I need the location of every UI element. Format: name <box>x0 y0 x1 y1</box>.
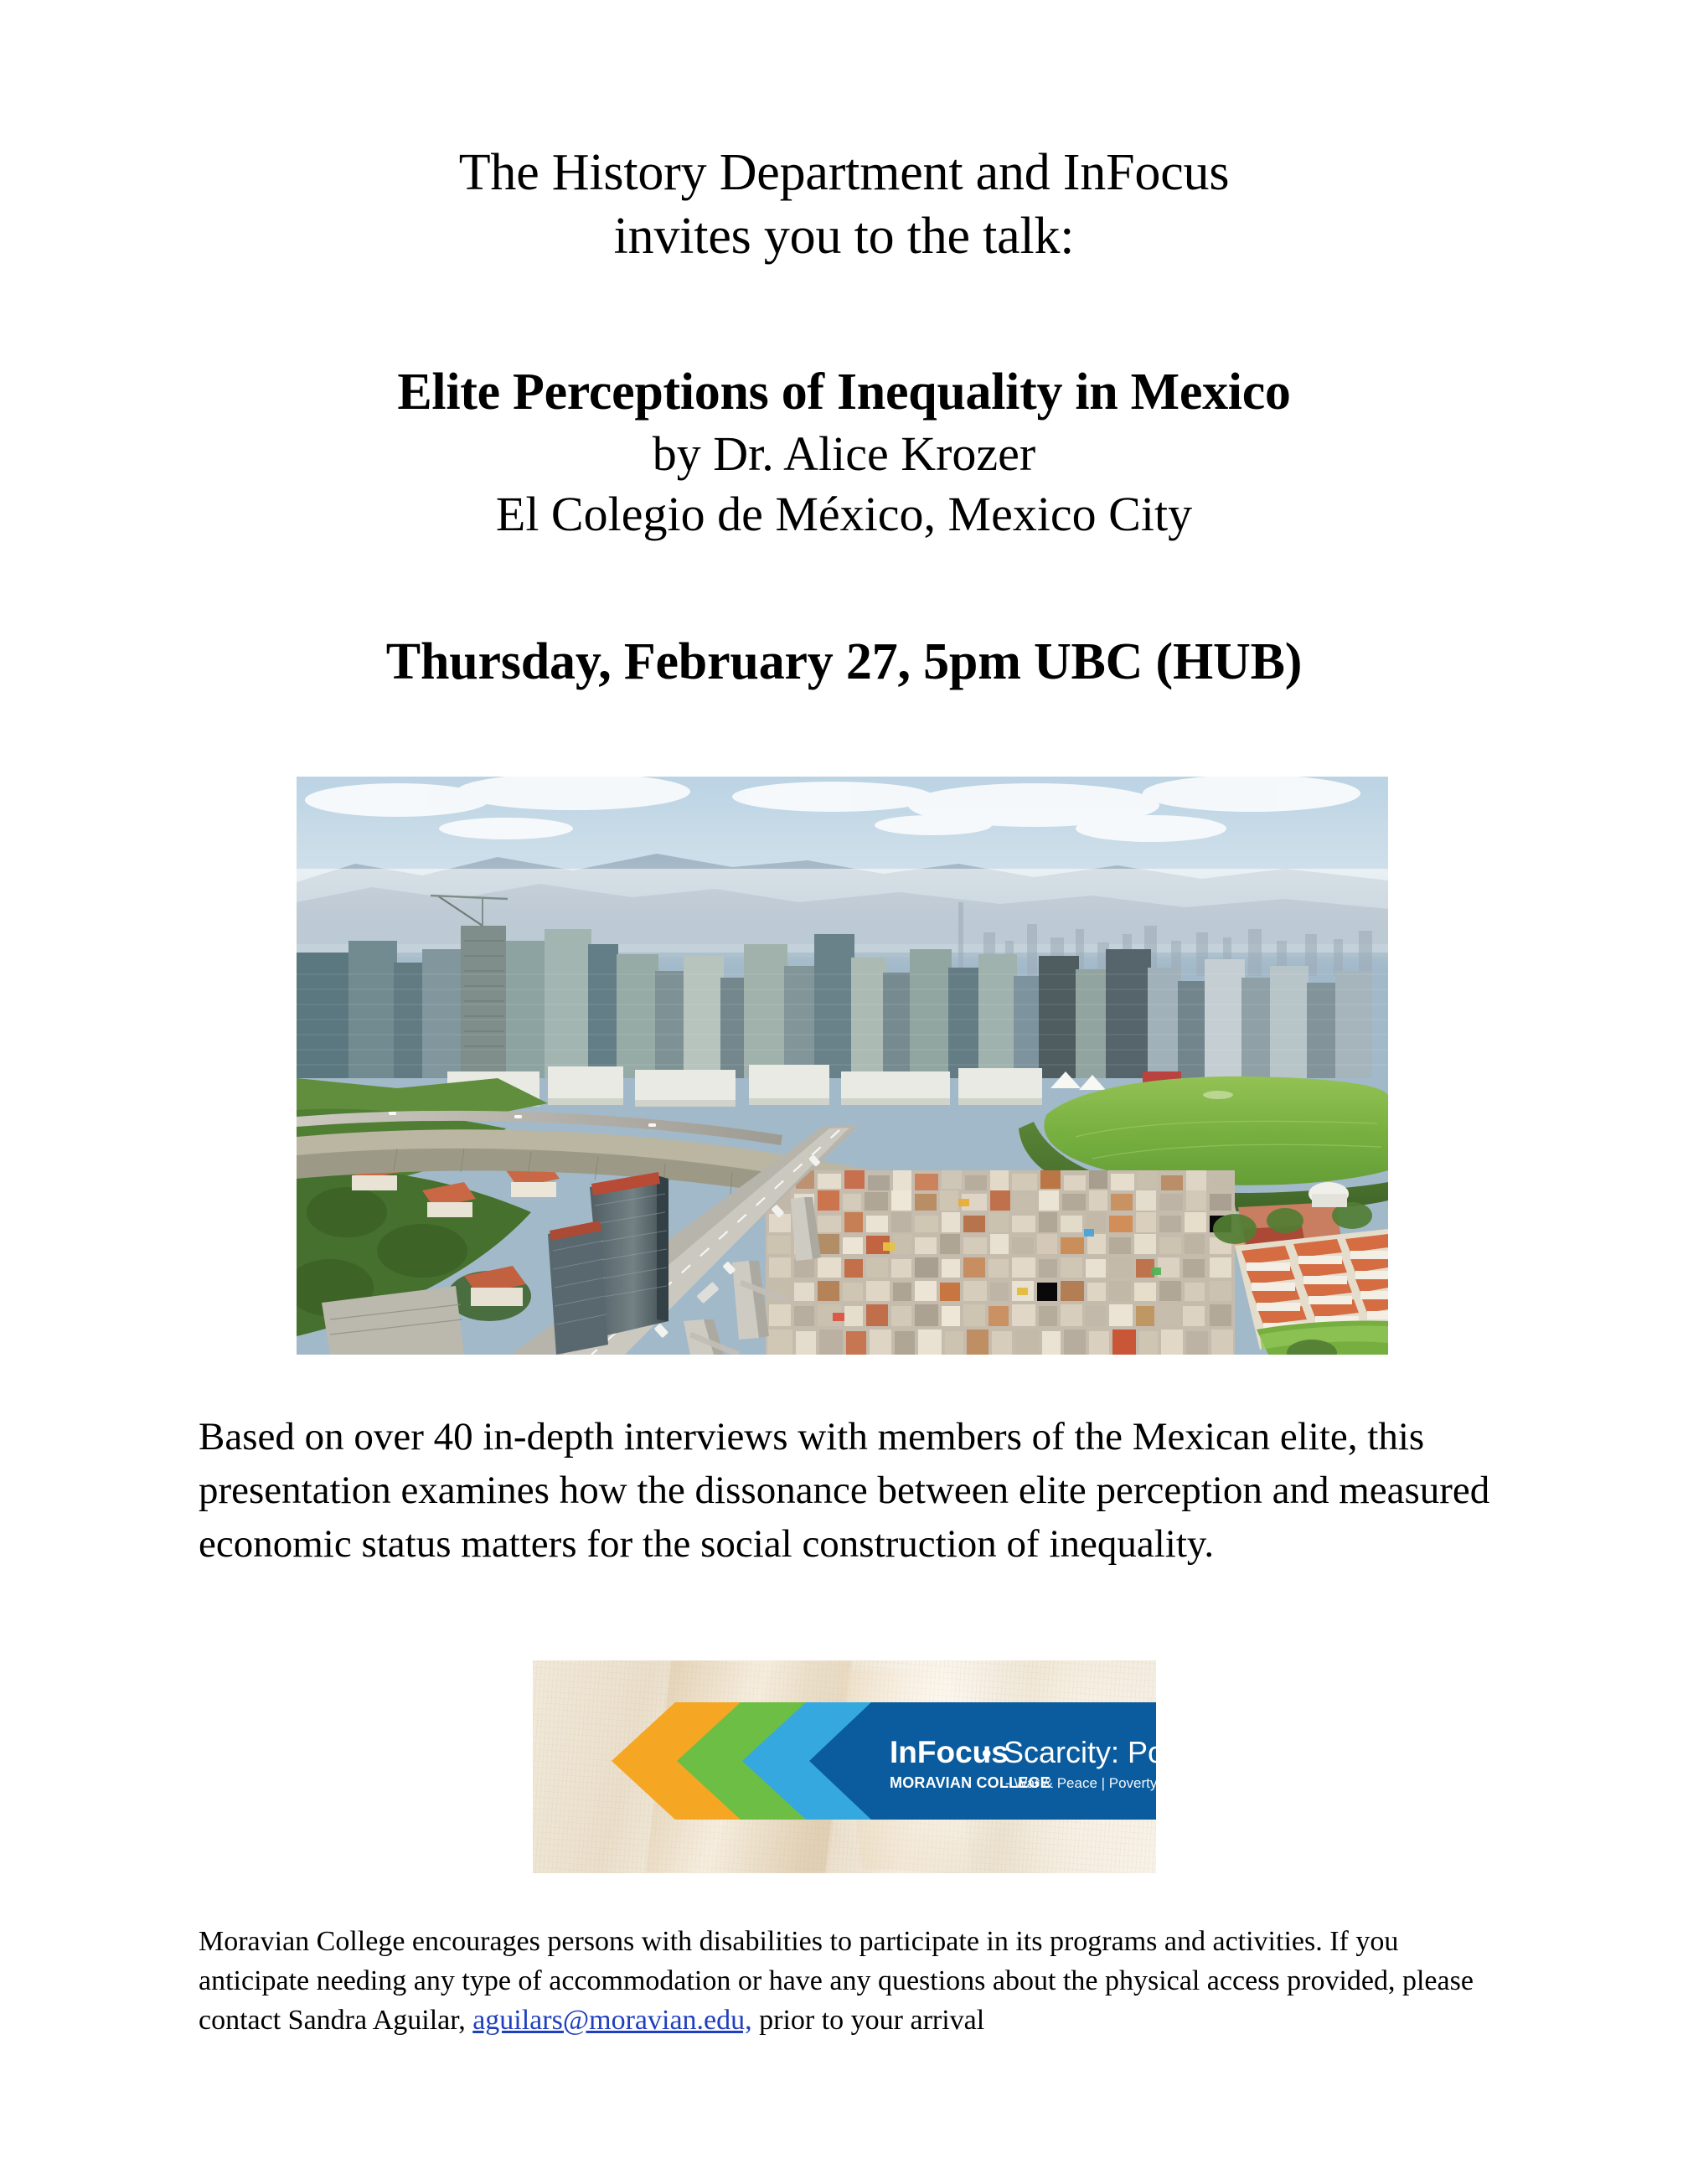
abstract-paragraph: Based on over 40 in-depth interviews wit… <box>199 1410 1493 1571</box>
aerial-photo-illustration <box>297 777 1388 1355</box>
infocus-logo-graphic: InFocus • Scarcity: Poverty & Inequality… <box>533 1660 1156 1873</box>
contact-email-link[interactable]: aguilars@moravian.edu, <box>472 2005 751 2036</box>
header-line-1: The History Department and InFocus <box>0 141 1688 204</box>
talk-speaker: by Dr. Alice Krozer <box>0 424 1688 484</box>
logo-theme: Scarcity: Poverty & Inequality <box>1004 1735 1156 1769</box>
talk-datetime: Thursday, February 27, 5pm UBC (HUB) <box>0 630 1688 694</box>
accessibility-note-part2: prior to your arrival <box>752 2005 985 2036</box>
talk-datetime-text: Thursday, February 27, 5pm UBC (HUB) <box>386 633 1302 690</box>
logo-subtitle-tail: - War & Peace | Poverty & Inequality | S… <box>1005 1775 1156 1791</box>
header-line-1-text: The History Department and InFocus <box>459 144 1230 201</box>
flyer-page: The History Department and InFocus invit… <box>0 0 1688 2184</box>
santa-fe-aerial-photo <box>297 777 1388 1355</box>
talk-title-text: Elite Perceptions of Inequality in Mexic… <box>397 364 1290 421</box>
talk-speaker-text: by Dr. Alice Krozer <box>653 426 1035 481</box>
infocus-logo-banner: InFocus • Scarcity: Poverty & Inequality… <box>533 1660 1156 1873</box>
header-line-2: invites you to the talk: <box>0 204 1688 268</box>
header-line-2-text: invites you to the talk: <box>614 208 1075 265</box>
talk-affiliation: El Colegio de México, Mexico City <box>0 484 1688 545</box>
accessibility-note: Moravian College encourages persons with… <box>199 1922 1493 2040</box>
logo-separator-dot: • <box>982 1737 992 1768</box>
talk-title: Elite Perceptions of Inequality in Mexic… <box>0 360 1688 424</box>
talk-affiliation-text: El Colegio de México, Mexico City <box>496 487 1192 541</box>
